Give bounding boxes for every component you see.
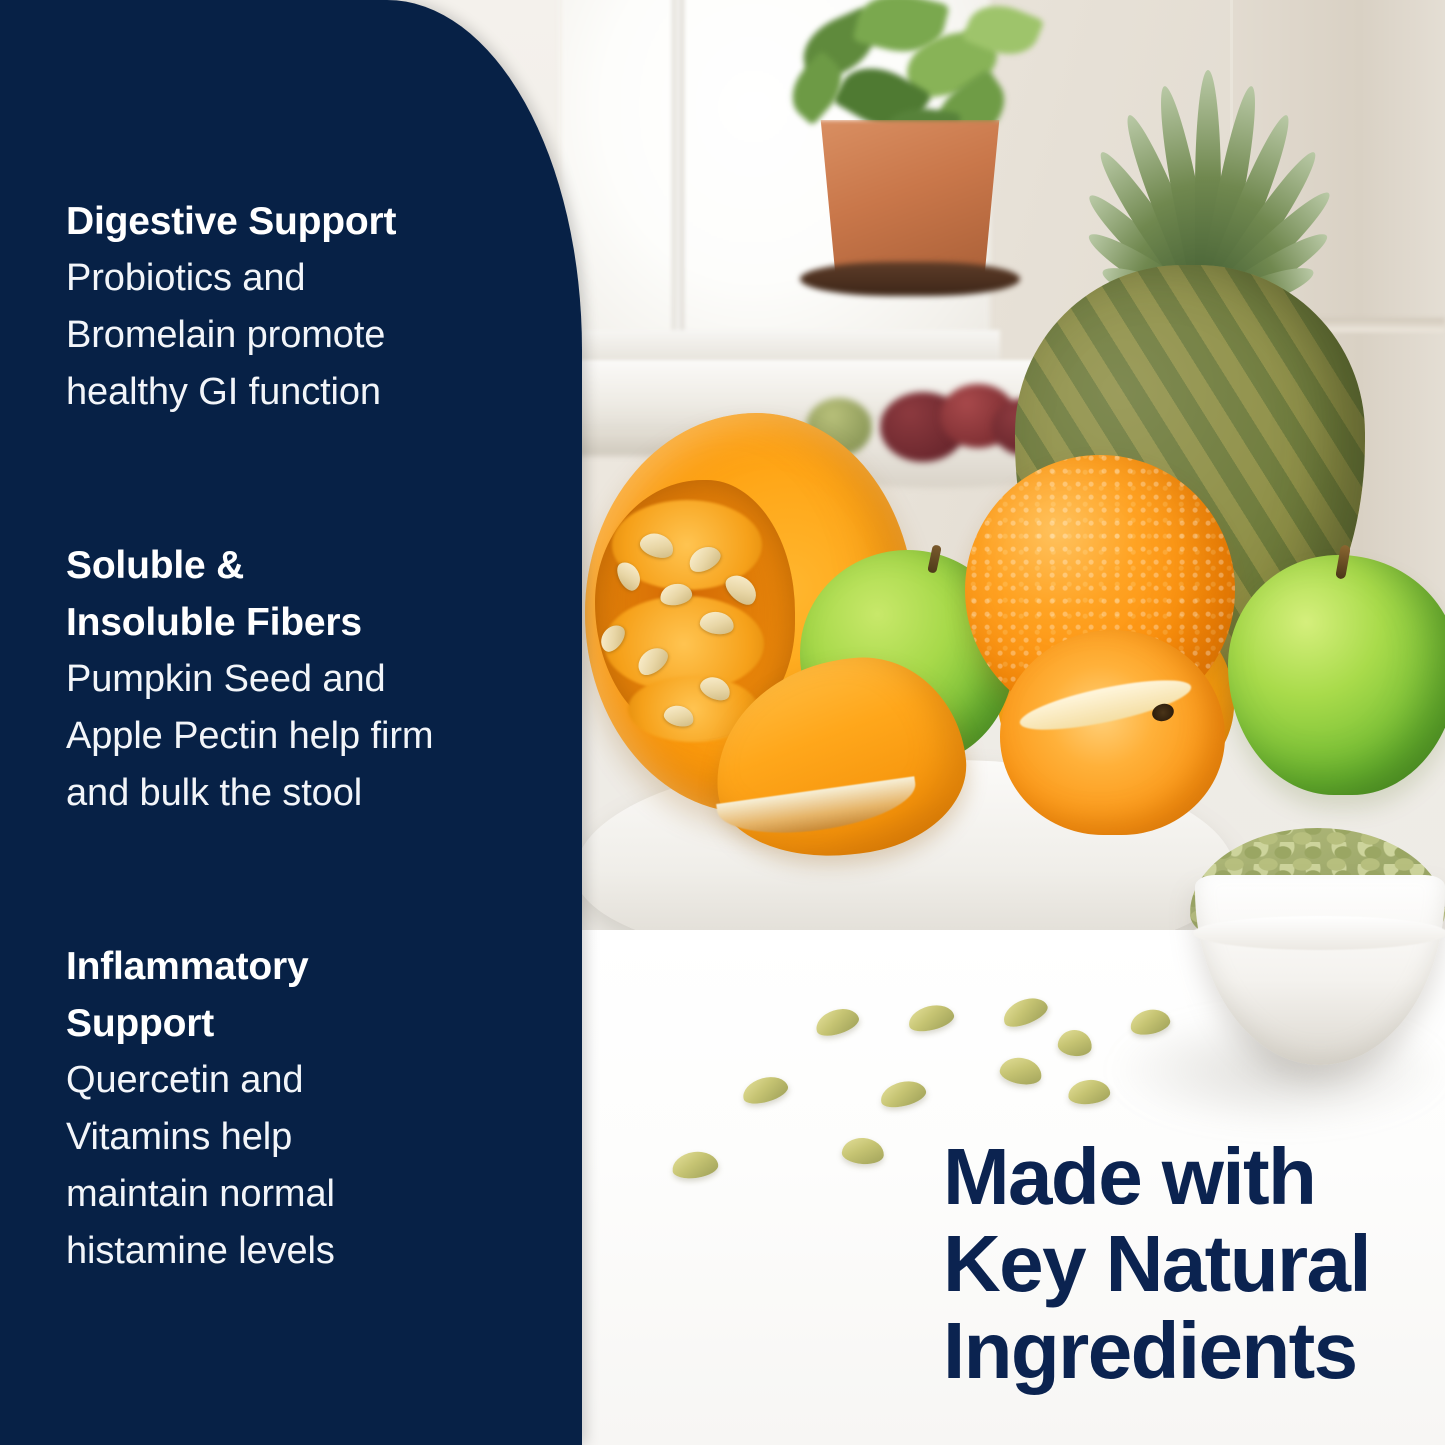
benefits-panel: Digestive Support Probiotics and Bromela… bbox=[0, 0, 582, 1445]
feature-title: Digestive Support bbox=[66, 193, 566, 250]
feature-soluble-insoluble-fibers: Soluble & Insoluble Fibers Pumpkin Seed … bbox=[66, 537, 566, 822]
bowl-rim bbox=[1193, 916, 1445, 950]
feature-digestive-support: Digestive Support Probiotics and Bromela… bbox=[66, 193, 566, 421]
terracotta-pot bbox=[815, 120, 1005, 280]
window-mullion bbox=[672, 0, 684, 380]
product-benefits-infographic: Digestive Support Probiotics and Bromela… bbox=[0, 0, 1445, 1445]
headline: Made with Key Natural Ingredients bbox=[943, 1133, 1443, 1394]
feature-body: Quercetin and Vitamins help maintain nor… bbox=[66, 1052, 566, 1280]
feature-title: Inflammatory Support bbox=[66, 938, 566, 1052]
feature-inflammatory-support: Inflammatory Support Quercetin and Vitam… bbox=[66, 938, 566, 1280]
feature-body: Pumpkin Seed and Apple Pectin help firm … bbox=[66, 651, 566, 822]
feature-body: Probiotics and Bromelain promote healthy… bbox=[66, 250, 566, 421]
pot-saucer bbox=[800, 262, 1020, 296]
feature-title: Soluble & Insoluble Fibers bbox=[66, 537, 566, 651]
pineapple-crown bbox=[1035, 0, 1355, 310]
